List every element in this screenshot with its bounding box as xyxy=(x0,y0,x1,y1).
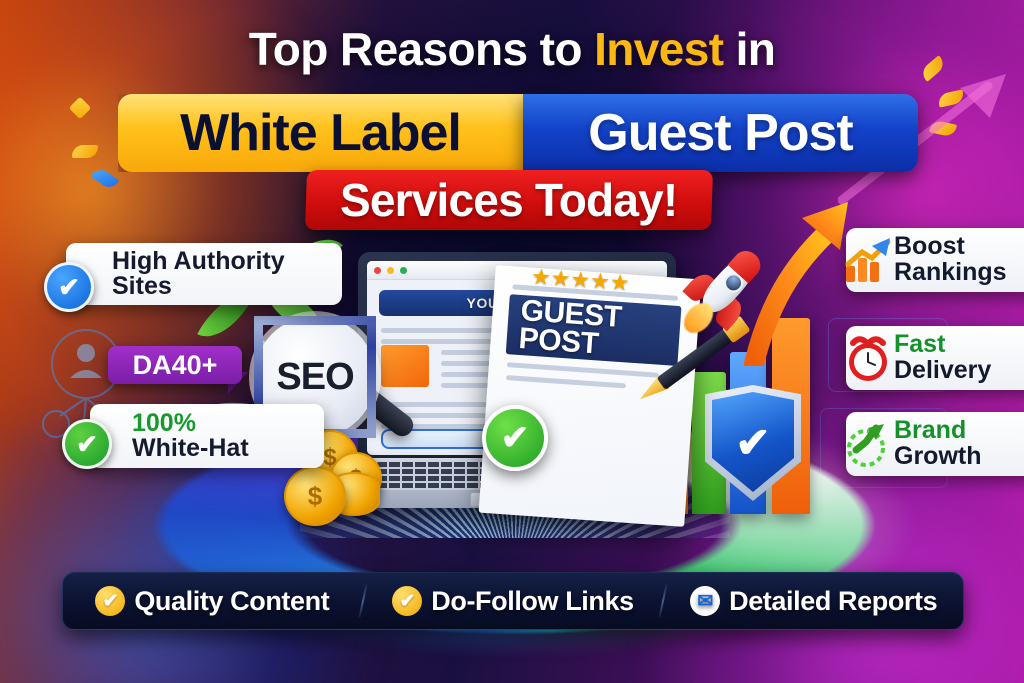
screen-image-placeholder xyxy=(381,345,429,387)
badge-fast-delivery-line1: Fast xyxy=(894,330,945,358)
badge-white-hat[interactable]: 100% White-Hat xyxy=(90,404,324,468)
bottom-item-detailed-reports-label: Detailed Reports xyxy=(729,586,937,617)
headline-band-services-today: Services Today! xyxy=(305,170,713,230)
badge-brand-growth[interactable]: Brand Growth xyxy=(846,412,1024,476)
gold-check-icon: ✔ xyxy=(95,586,125,616)
badge-boost-rankings[interactable]: Boost Rankings xyxy=(846,228,1024,292)
headline-band-row: White Label Guest Post xyxy=(118,94,918,172)
bottom-item-quality-content[interactable]: ✔ Quality Content xyxy=(63,586,362,617)
window-close-dot[interactable] xyxy=(374,267,381,274)
bottom-item-detailed-reports[interactable]: ✉ Detailed Reports xyxy=(664,586,963,617)
headline-band-guest-post: Guest Post xyxy=(523,94,918,172)
badge-white-hat-percent: 100% xyxy=(132,409,196,437)
headline-part-3: in xyxy=(723,23,775,75)
badge-brand-growth-label: Brand Growth xyxy=(894,418,982,470)
doc-text-line xyxy=(506,375,626,388)
badge-boost-rankings-label: Boost Rankings xyxy=(894,234,1007,286)
envelope-icon: ✉ xyxy=(690,586,720,616)
badge-white-hat-label: 100% White-Hat xyxy=(132,411,249,462)
badge-high-authority-sites-label: High Authority Sites xyxy=(112,249,342,300)
gold-check-icon: ✔ xyxy=(392,586,422,616)
badge-brand-growth-line1: Brand xyxy=(894,416,966,444)
bottom-item-do-follow-links[interactable]: ✔ Do-Follow Links xyxy=(364,586,663,617)
blue-check-icon: ✔ xyxy=(44,262,94,312)
headline-band-services-today-text: Services Today! xyxy=(340,173,677,227)
badge-boost-rankings-line1: Boost xyxy=(894,232,965,260)
bottom-item-quality-content-label: Quality Content xyxy=(134,586,329,617)
headline-band-white-label: White Label xyxy=(118,94,523,172)
bar-chart-arrow-icon xyxy=(842,236,894,286)
headline-part-1: Top Reasons to xyxy=(249,23,594,75)
green-check-icon: ✔ xyxy=(62,419,112,469)
headline-top-line: Top Reasons to Invest in xyxy=(0,22,1024,76)
badge-boost-rankings-line2: Rankings xyxy=(894,258,1007,286)
bottom-item-do-follow-links-label: Do-Follow Links xyxy=(431,586,634,617)
promo-banner: Top Reasons to Invest in White Label Gue… xyxy=(0,0,1024,683)
window-minimize-dot[interactable] xyxy=(387,267,394,274)
window-maximize-dot[interactable] xyxy=(400,267,407,274)
headline-highlight-invest: Invest xyxy=(594,23,723,75)
badge-fast-delivery-label: Fast Delivery xyxy=(894,332,991,384)
alarm-clock-icon xyxy=(842,334,894,384)
bottom-feature-bar: ✔ Quality Content ✔ Do-Follow Links ✉ De… xyxy=(62,572,964,630)
badge-brand-growth-line2: Growth xyxy=(894,442,982,470)
badge-high-authority-sites[interactable]: High Authority Sites xyxy=(66,243,342,305)
growth-arrow-clock-icon xyxy=(842,420,894,470)
badge-white-hat-text: White-Hat xyxy=(132,434,249,462)
coin-icon: $ xyxy=(284,466,346,526)
badge-fast-delivery[interactable]: Fast Delivery xyxy=(846,326,1024,390)
guest-post-title: GUEST POST xyxy=(506,294,682,366)
approved-check-icon: ✔ xyxy=(482,405,548,471)
badge-fast-delivery-line2: Delivery xyxy=(894,356,991,384)
doc-text-line xyxy=(507,362,659,378)
badge-da40plus[interactable]: DA40+ xyxy=(108,346,242,384)
